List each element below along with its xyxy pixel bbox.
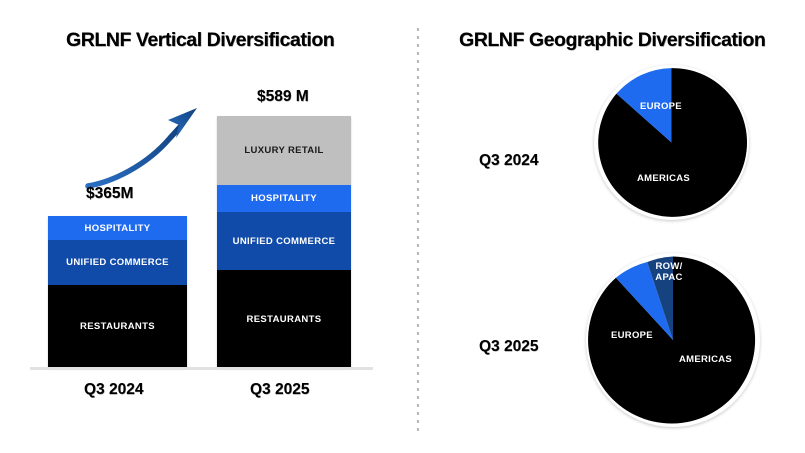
pie-row-label-2025: Q3 2025 (479, 338, 538, 356)
segment-label: LUXURY RETAIL (244, 145, 323, 156)
bar-segment-hospitality-2024[interactable]: HOSPITALITY (48, 216, 187, 240)
bar-segment-unified-commerce-2025[interactable]: UNIFIED COMMERCE (217, 212, 351, 270)
bar-total-label-2024: $365M (86, 185, 133, 203)
panel-divider (417, 28, 419, 432)
segment-label: UNIFIED COMMERCE (233, 236, 336, 247)
pie-slice-label-row-apac-2025: ROW/ APAC (648, 262, 690, 284)
row-apac-line-1: ROW/ (655, 261, 682, 272)
stacked-bar-2025[interactable]: LUXURY RETAIL HOSPITALITY UNIFIED COMMER… (217, 116, 351, 368)
segment-label: HOSPITALITY (251, 193, 317, 204)
bar-category-label-2025: Q3 2025 (250, 381, 309, 399)
pie-slice-label-europe-2025: EUROPE (611, 331, 653, 342)
pie-chart-2024[interactable] (594, 65, 749, 220)
segment-label: UNIFIED COMMERCE (66, 257, 169, 268)
left-panel-title: GRLNF Vertical Diversification (66, 29, 334, 52)
right-panel-title: GRLNF Geographic Diversification (459, 29, 765, 52)
stacked-bar-2024[interactable]: HOSPITALITY UNIFIED COMMERCE RESTAURANTS (48, 216, 187, 368)
segment-label: RESTAURANTS (80, 321, 155, 332)
pie-slice-label-americas-2024: AMERICAS (637, 174, 690, 185)
bar-segment-hospitality-2025[interactable]: HOSPITALITY (217, 185, 351, 212)
pie-slice-label-europe-2024: EUROPE (640, 102, 682, 113)
pie-slice-label-americas-2025: AMERICAS (679, 355, 732, 366)
segment-label: HOSPITALITY (85, 223, 151, 234)
row-apac-line-2: APAC (655, 272, 682, 283)
bar-segment-restaurants-2025[interactable]: RESTAURANTS (217, 270, 351, 368)
bar-category-label-2024: Q3 2024 (84, 381, 143, 399)
bar-segment-restaurants-2024[interactable]: RESTAURANTS (48, 285, 187, 368)
segment-label: RESTAURANTS (247, 314, 322, 325)
growth-arrow-icon (84, 100, 209, 195)
bar-segment-luxury-retail-2025[interactable]: LUXURY RETAIL (217, 116, 351, 185)
slide-canvas: GRLNF Vertical Diversification $365M $58… (0, 0, 805, 453)
pie-row-label-2024: Q3 2024 (479, 152, 538, 170)
bar-segment-unified-commerce-2024[interactable]: UNIFIED COMMERCE (48, 240, 187, 285)
bar-chart-baseline (30, 367, 373, 370)
bar-total-label-2025: $589 M (257, 88, 309, 106)
